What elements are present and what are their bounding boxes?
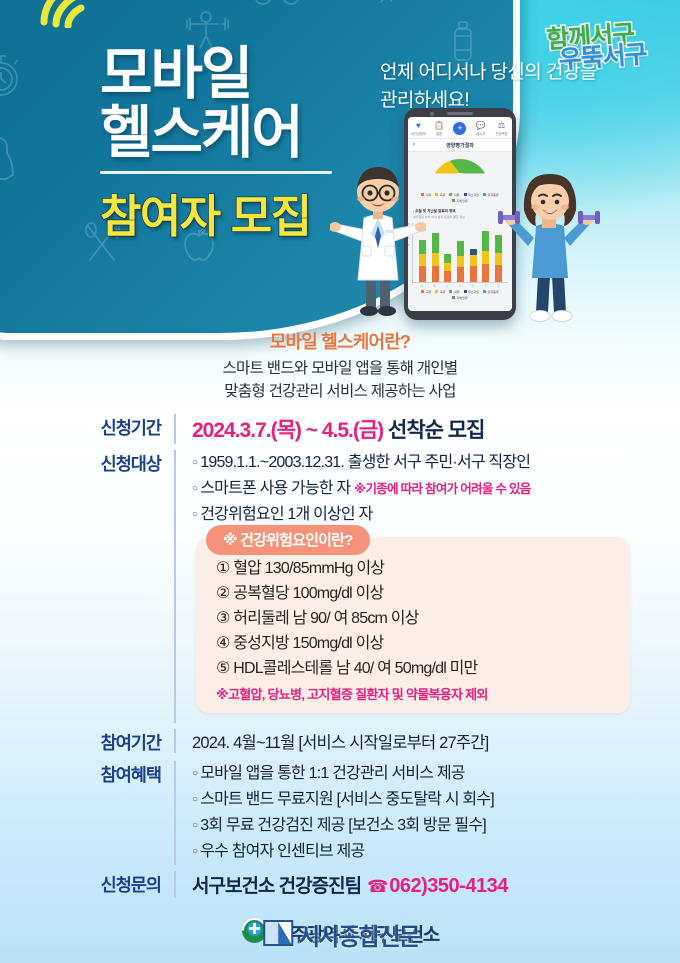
row-apply-target: 신청대상 ○1959.1.1.~2003.12.31. 출생한 서구 주민·서구… xyxy=(78,450,638,723)
info-table: 신청기간 2024.3.7.(목) ~ 4.5.(금) 선착순 모집 신청대상 … xyxy=(78,414,638,904)
target-item: ○건강위험요인 1개 이상인 자 xyxy=(192,502,638,528)
bullet-icon: ○ xyxy=(192,457,197,468)
district-slogan: 함께서구 우뚝서구 xyxy=(535,22,648,74)
risk-box-footnote: ※고혈압, 당뇨병, 고지혈증 질환자 및 약물복용자 제외 xyxy=(216,684,616,703)
phone-speaker xyxy=(447,112,473,115)
apply-period-value: 2024.3.7.(목) ~ 4.5.(금) 선착순 모집 xyxy=(192,414,638,444)
label-participation-period: 참여기간 xyxy=(78,729,174,755)
poster-title-block: 모바일 헬스케어 언제 어디서나 당신의 건강을 관리하세요! 참여자 모집 xyxy=(100,45,332,245)
nutrition-donut-chart xyxy=(431,159,489,188)
poster-root: 모바일 헬스케어 언제 어디서나 당신의 건강을 관리하세요! 참여자 모집 함… xyxy=(0,0,680,963)
nav-item-goal[interactable]: ⚖ 건강목표 xyxy=(492,121,511,136)
label-apply-target: 신청대상 xyxy=(78,450,174,476)
water-bottle-icon xyxy=(450,20,476,62)
bicycle-icon xyxy=(253,0,301,6)
row-apply-period: 신청기간 2024.3.7.(목) ~ 4.5.(금) 선착순 모집 xyxy=(78,414,638,444)
wifi-icon xyxy=(36,0,98,33)
participation-period-value: 2024. 4월~11월 [서비스 시작일로부터 27주간] xyxy=(192,729,638,753)
bullet-icon: ○ xyxy=(192,509,197,520)
nav-item-message[interactable]: 💬 메시지 xyxy=(471,121,490,136)
apply-period-suffix: 선착순 모집 xyxy=(388,419,484,442)
inquiry-org: 서구보건소 건강증진팀 xyxy=(192,876,361,897)
row-inquiry: 신청문의 서구보건소 건강증진팀☎062)350-4134 xyxy=(78,871,638,898)
nav-item-health[interactable]: ♥ 내건강정보 xyxy=(409,121,428,136)
watermark-book-icon xyxy=(261,916,295,953)
what-is-section: 모바일 헬스케어란? 스마트 밴드와 모바일 앱을 통해 개인별 맞춤형 건강관… xyxy=(0,328,680,404)
benefit-item: ○모바일 앱을 통한 1:1 건강관리 서비스 제공 xyxy=(192,761,638,787)
what-is-heading: 모바일 헬스케어란? xyxy=(0,328,680,354)
inquiry-phone[interactable]: 062)350-4134 xyxy=(389,875,508,897)
risk-item: ③ 허리둘레 남 90/ 여 85cm 이상 xyxy=(216,607,616,632)
phone-camera xyxy=(430,112,434,116)
back-icon[interactable]: ‹ xyxy=(413,142,415,148)
slogan-line-2: 우뚝서구 xyxy=(558,43,647,72)
benefit-item: ○3회 무료 건강검진 제공 [보건소 3회 방문 필수] xyxy=(192,813,638,839)
newspaper-watermark: 시사종합신문 xyxy=(261,916,418,953)
row-benefits: 참여혜택 ○모바일 앱을 통한 1:1 건강관리 서비스 제공 ○스마트 밴드 … xyxy=(78,761,638,865)
bar-thu xyxy=(457,241,464,282)
row-participation-period: 참여기간 2024. 4월~11월 [서비스 시작일로부터 27주간] xyxy=(78,729,638,755)
app-screen-title: 영양평가결과 xyxy=(446,142,474,149)
bar-fri xyxy=(470,249,477,282)
apply-period-dates: 2024.3.7.(목) ~ 4.5.(금) xyxy=(192,419,383,442)
runner-icon xyxy=(368,0,406,10)
title-underline xyxy=(100,171,332,174)
target-item-note: ※기종에 따라 참여가 어려울 수 있음 xyxy=(354,482,531,496)
risk-item: ④ 중성지방 150mg/dl 이상 xyxy=(216,632,616,657)
stopwatch-icon xyxy=(0,50,24,100)
bar-tue xyxy=(432,233,439,282)
risk-item: ② 공복혈당 100mg/dl 이상 xyxy=(216,582,616,607)
label-benefits: 참여혜택 xyxy=(78,761,174,787)
benefit-item: ○우수 참여자 인센티브 제공 xyxy=(192,839,638,865)
benefit-item: ○스마트 밴드 무료지원 [서비스 중도탈락 시 회수] xyxy=(192,787,638,813)
watermark-text: 시사종합신문 xyxy=(298,917,418,952)
plus-icon: + xyxy=(453,122,466,135)
bar-sat xyxy=(482,231,489,282)
doctor-character xyxy=(330,158,426,320)
risk-item: ① 혈압 130/85mmHg 이상 xyxy=(216,557,616,582)
risk-factor-box: ※ 건강위험요인이란? ① 혈압 130/85mmHg 이상 ② 공복혈당 10… xyxy=(196,537,630,714)
hand-gripper-icon xyxy=(0,132,22,184)
risk-box-badge: ※ 건강위험요인이란? xyxy=(206,525,370,555)
nav-item-survey[interactable]: 📋 설문 xyxy=(430,121,449,136)
label-apply-period: 신청기간 xyxy=(78,414,174,440)
bullet-icon: ○ xyxy=(192,794,197,805)
nav-item-add[interactable]: + xyxy=(450,122,469,136)
risk-item: ⑤ HDL콜레스테롤 남 40/ 여 50mg/dl 미만 xyxy=(216,657,616,682)
telephone-icon: ☎ xyxy=(367,877,387,896)
title-line-1: 모바일 xyxy=(100,45,332,104)
title-highlight: 참여자 모집 xyxy=(100,180,332,245)
app-title-bar: ‹ 영양평가결과 xyxy=(408,139,512,152)
bullet-icon: ○ xyxy=(192,768,197,779)
label-inquiry: 신청문의 xyxy=(78,871,174,897)
title-line-2: 헬스케어 xyxy=(100,104,332,163)
inquiry-value: 서구보건소 건강증진팀☎062)350-4134 xyxy=(192,871,638,898)
calorie-bar-chart: 1,6001,400 1,2001,000 800600 400200 0 xyxy=(412,223,508,283)
what-is-line-2: 맞춤형 건강관리 서비스 제공하는 사업 xyxy=(224,383,455,400)
bullet-icon: ○ xyxy=(192,483,197,494)
bullet-icon: ○ xyxy=(192,846,197,857)
app-nav-bar: ♥ 내건강정보 📋 설문 + 💬 메시지 ⚖ 건강목표 xyxy=(408,117,512,139)
target-item: ○스마트폰 사용 가능한 자 ※기종에 따라 참여가 어려울 수 있음 xyxy=(192,476,638,502)
what-is-line-1: 스마트 밴드와 모바일 앱을 통해 개인별 xyxy=(223,360,458,377)
bullet-icon: ○ xyxy=(192,820,197,831)
target-item: ○1959.1.1.~2003.12.31. 출생한 서구 주민·서구 직장인 xyxy=(192,450,638,476)
bar-wed xyxy=(444,254,451,282)
woman-character xyxy=(498,168,602,326)
